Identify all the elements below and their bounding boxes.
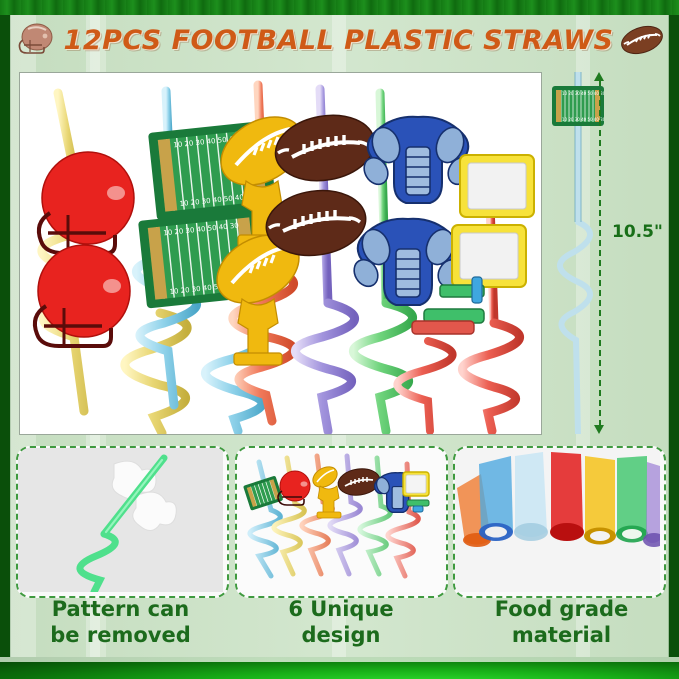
caption-food-grade: Food grade material bbox=[457, 596, 666, 658]
caption-line-2: be removed bbox=[16, 622, 225, 648]
height-measure-line bbox=[598, 72, 602, 434]
main-product-photo: 10 20 30 40 50 40 30 10 20 30 40 50 40 3… bbox=[19, 72, 542, 435]
scoreboard-charm bbox=[452, 225, 526, 287]
measurement-label: 10.5" bbox=[612, 222, 663, 242]
page-title: 12PCS FOOTBALL PLASTIC STRAWS bbox=[64, 25, 614, 56]
caption-line-1: Pattern can bbox=[16, 596, 225, 622]
measure-dashed-line bbox=[599, 80, 601, 426]
caption-line-1: Food grade bbox=[457, 596, 666, 622]
caption-pattern-removable: Pattern can be removed bbox=[16, 596, 225, 658]
caption-line-2: design bbox=[237, 622, 446, 648]
feature-panel-pattern-removable bbox=[16, 446, 229, 598]
straw-tube bbox=[584, 456, 616, 545]
six-designs-photo bbox=[237, 448, 442, 592]
caption-line-2: material bbox=[457, 622, 666, 648]
top-grass-band bbox=[0, 0, 679, 15]
single-straw-height-reference: 10 20 30 40 50 40 30 10 20 30 40 50 40 3… bbox=[548, 72, 604, 434]
feature-panel-unique-designs bbox=[235, 446, 448, 598]
feature-caption-row: Pattern can be removed 6 Unique design F… bbox=[16, 596, 666, 658]
straw-tube bbox=[616, 456, 648, 543]
football-helmet-icon bbox=[14, 23, 58, 57]
removable-pattern-photo bbox=[18, 448, 223, 592]
caption-line-1: 6 Unique bbox=[237, 596, 446, 622]
infographic-page: 12PCS FOOTBALL PLASTIC STRAWS bbox=[0, 0, 679, 679]
straw-tube bbox=[550, 452, 584, 541]
scoreboard-charm bbox=[460, 155, 534, 217]
football-icon bbox=[619, 24, 665, 56]
shoulder-pads-charm bbox=[359, 117, 476, 203]
bottom-grass-band bbox=[0, 657, 679, 679]
football-field-charm: 10 20 30 40 50 40 30 10 20 30 40 50 40 3… bbox=[552, 86, 604, 126]
feature-panel-food-grade bbox=[453, 446, 666, 598]
feature-panel-row bbox=[16, 446, 666, 596]
page-header: 12PCS FOOTBALL PLASTIC STRAWS bbox=[10, 16, 669, 64]
straw-tube bbox=[479, 456, 513, 541]
caption-unique-designs: 6 Unique design bbox=[237, 596, 446, 658]
food-grade-tubes-photo bbox=[455, 448, 660, 592]
straw-tube bbox=[514, 452, 548, 541]
measure-arrow-down-icon bbox=[594, 425, 604, 434]
